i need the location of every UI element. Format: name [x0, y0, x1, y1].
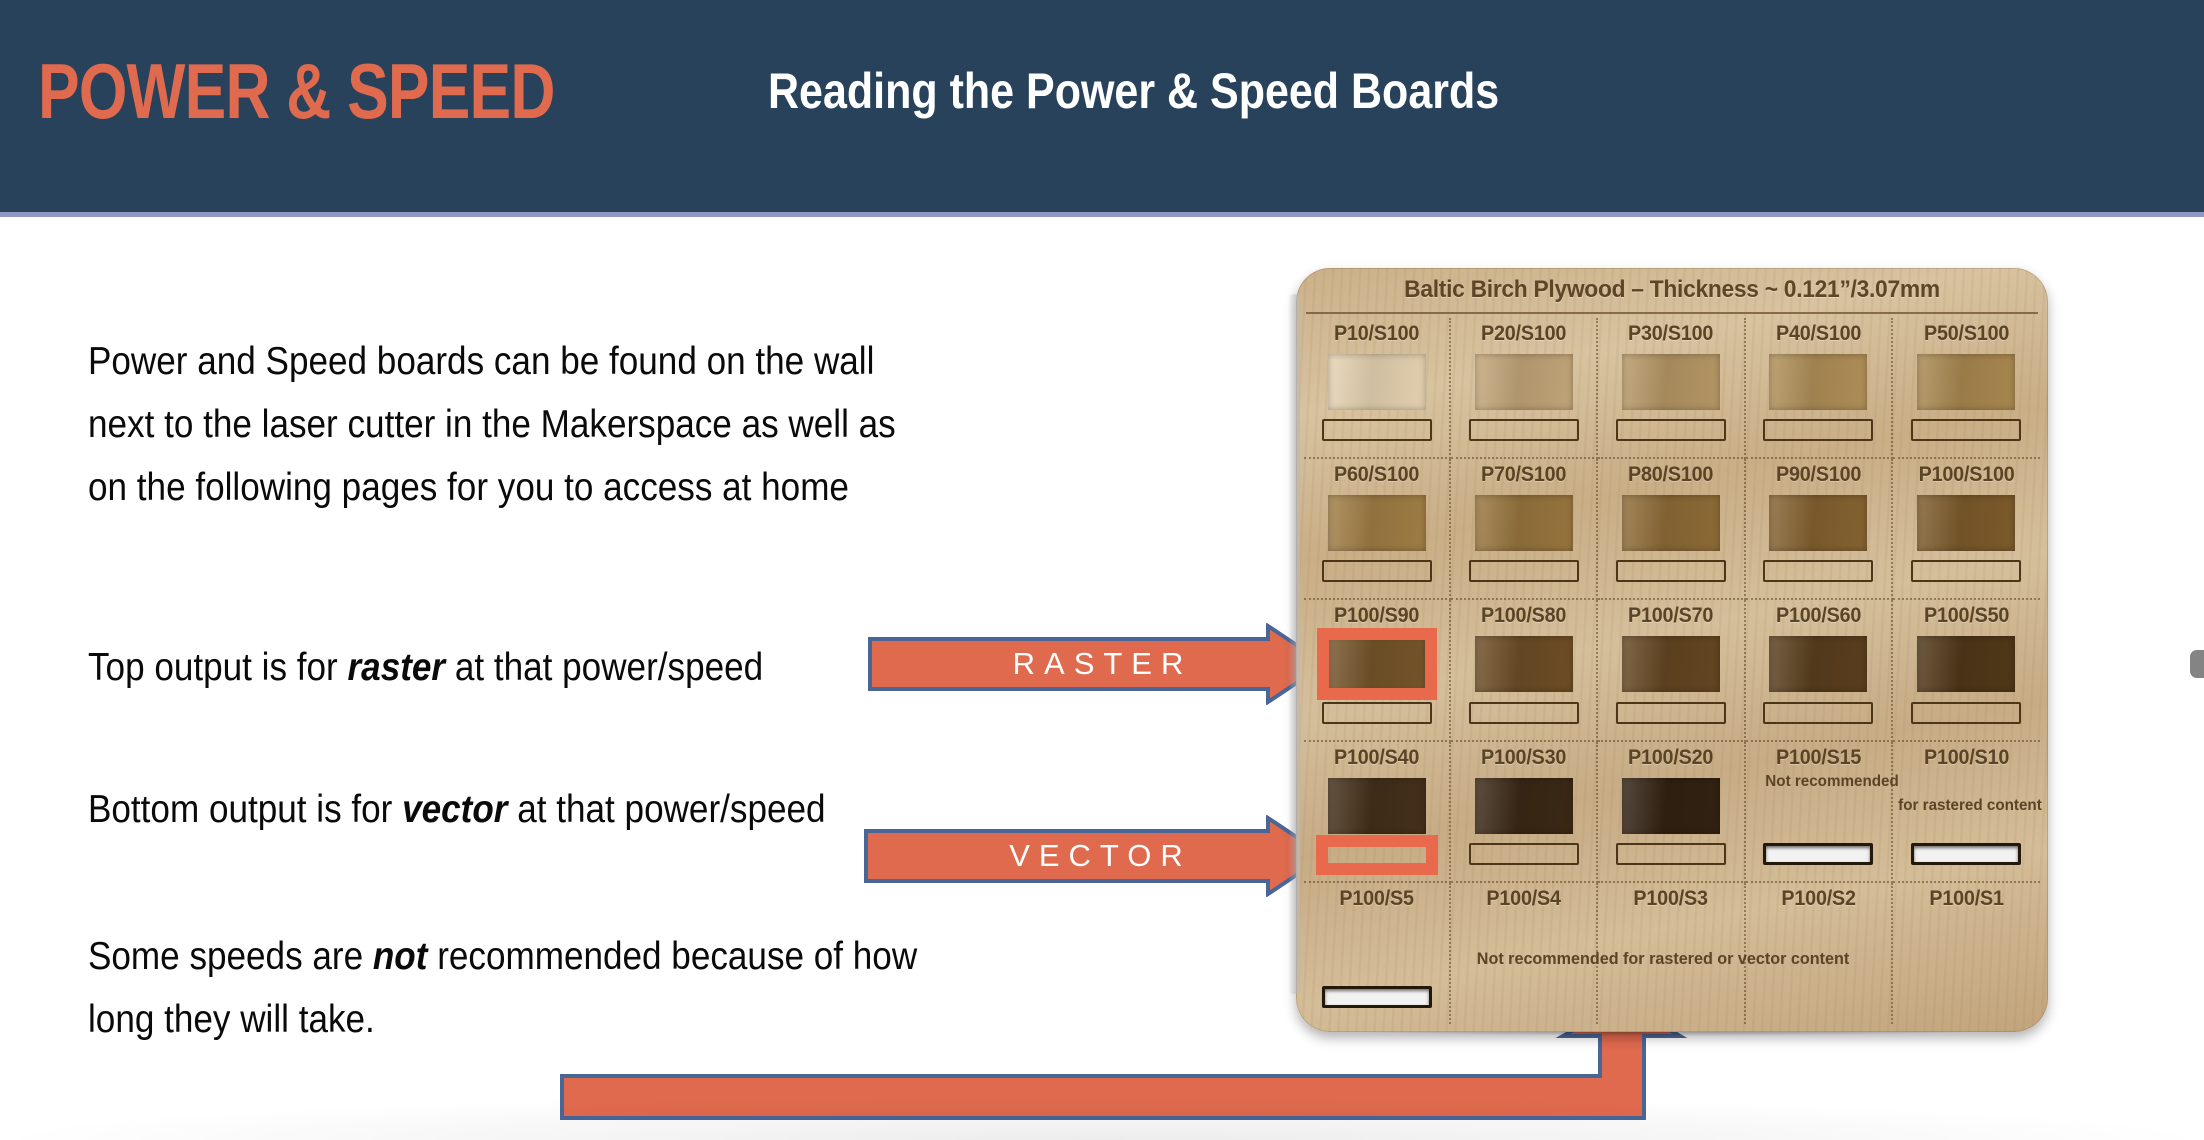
- raster-callout-arrow: RASTER: [868, 636, 1328, 692]
- board-cell-label: P30/S100: [1603, 322, 1739, 346]
- board-cell: P80/S100: [1598, 459, 1745, 600]
- board-cell: P100/S40: [1304, 742, 1451, 883]
- board-surface: Baltic Birch Plywood – Thickness ~ 0.121…: [1296, 268, 2048, 1032]
- paragraph-raster-pre: Top output is for: [88, 646, 348, 689]
- paragraph-intro: Power and Speed boards can be found on t…: [88, 330, 896, 520]
- page-title: POWER & SPEED: [38, 52, 555, 130]
- board-cell-label: P100/S10: [1897, 746, 2035, 770]
- vector-cut-through-slot: [1322, 986, 1432, 1008]
- power-speed-board-photo: Baltic Birch Plywood – Thickness ~ 0.121…: [1296, 268, 2048, 1040]
- board-cell-label: P40/S100: [1750, 322, 1886, 346]
- board-cell: P100/S3Not recommended for rastered or v…: [1598, 883, 1745, 1024]
- paragraph-vector: Bottom output is for vector at that powe…: [88, 778, 826, 841]
- header-accent-rule: [0, 212, 2204, 217]
- vector-test-slot: [1616, 843, 1726, 865]
- vector-test-slot: [1911, 560, 2021, 582]
- vector-test-slot: [1763, 560, 1873, 582]
- board-cell: P100/S90: [1304, 600, 1451, 741]
- paragraph-not-recommended-line-1: Some speeds are not recommended because …: [88, 925, 917, 988]
- board-cell: P70/S100: [1451, 459, 1598, 600]
- slide-canvas: POWER & SPEED Reading the Power & Speed …: [0, 0, 2204, 1140]
- vector-test-slot: [1616, 702, 1726, 724]
- vector-test-slot: [1322, 419, 1432, 441]
- board-heading-rule: [1306, 312, 2038, 314]
- vector-arrow-shape: [864, 815, 1328, 897]
- paragraph-intro-line-1: Power and Speed boards can be found on t…: [88, 330, 896, 393]
- vector-test-slot: [1322, 702, 1432, 724]
- board-cell: P100/S30: [1451, 742, 1598, 883]
- board-left-edge: [1288, 294, 1300, 994]
- board-cell: P100/S80: [1451, 600, 1598, 741]
- raster-test-swatch: [1622, 636, 1720, 692]
- board-cell: P100/S2: [1746, 883, 1893, 1024]
- paragraph-raster-emphasis: raster: [348, 646, 446, 689]
- board-cell: P100/S20: [1598, 742, 1745, 883]
- raster-arrow-shape: [868, 623, 1328, 705]
- board-cell-grid: P10/S100P20/S100P30/S100P40/S100P50/S100…: [1304, 318, 2040, 1024]
- raster-test-swatch: [1622, 495, 1720, 551]
- paragraph-nr-emphasis: not: [373, 935, 428, 978]
- vector-test-slot: [1469, 702, 1579, 724]
- vector-test-slot: [1469, 560, 1579, 582]
- raster-test-swatch: [1622, 354, 1720, 410]
- vector-cut-through-slot: [1763, 843, 1873, 865]
- board-note-not-recommended-raster-cont: for rastered content: [1842, 796, 2042, 816]
- board-cell-label: P100/S20: [1603, 746, 1739, 770]
- board-cell: P100/S50: [1893, 600, 2040, 741]
- vector-test-slot: [1322, 843, 1432, 865]
- raster-test-swatch: [1328, 354, 1426, 410]
- board-cell: P40/S100: [1746, 318, 1893, 459]
- board-cell: P90/S100: [1746, 459, 1893, 600]
- vector-test-slot: [1911, 419, 2021, 441]
- board-cell: P100/S70: [1598, 600, 1745, 741]
- raster-test-swatch: [1917, 354, 2015, 410]
- board-note-not-recommended-raster: Not recommended: [1699, 772, 1899, 792]
- raster-test-swatch: [1475, 636, 1573, 692]
- board-cell: P100/S60: [1746, 600, 1893, 741]
- scrollbar-thumb[interactable]: [2190, 650, 2204, 678]
- raster-test-swatch: [1475, 354, 1573, 410]
- board-cell-label: P100/S80: [1456, 604, 1592, 628]
- raster-test-swatch: [1769, 354, 1867, 410]
- board-cell-label: P80/S100: [1603, 463, 1739, 487]
- board-cell-label: P100/S1: [1897, 887, 2035, 911]
- vector-cut-through-slot: [1911, 843, 2021, 865]
- vector-test-slot: [1763, 702, 1873, 724]
- board-cell-label: P50/S100: [1897, 322, 2035, 346]
- board-cell: P20/S100: [1451, 318, 1598, 459]
- vector-test-slot: [1911, 702, 2021, 724]
- raster-test-swatch: [1769, 495, 1867, 551]
- board-cell: P50/S100: [1893, 318, 2040, 459]
- board-cell-label: P70/S100: [1456, 463, 1592, 487]
- board-cell-label: P90/S100: [1750, 463, 1886, 487]
- board-cell-label: P100/S15: [1750, 746, 1886, 770]
- paragraph-vector-pre: Bottom output is for: [88, 788, 402, 831]
- board-cell-label: P60/S100: [1308, 463, 1444, 487]
- paragraph-vector-emphasis: vector: [402, 788, 507, 831]
- paragraph-nr-pre: Some speeds are: [88, 935, 373, 978]
- board-cell-label: P100/S40: [1308, 746, 1444, 770]
- raster-test-swatch: [1475, 495, 1573, 551]
- paragraph-raster: Top output is for raster at that power/s…: [88, 636, 763, 699]
- paragraph-intro-line-3: on the following pages for you to access…: [88, 456, 896, 519]
- raster-test-swatch: [1917, 636, 2015, 692]
- vector-test-slot: [1322, 560, 1432, 582]
- vector-test-slot: [1469, 843, 1579, 865]
- raster-test-swatch: [1917, 495, 2015, 551]
- board-cell-label: P100/S2: [1750, 887, 1886, 911]
- raster-test-swatch: [1328, 778, 1426, 834]
- board-cell: P30/S100: [1598, 318, 1745, 459]
- board-cell-label: P100/S4: [1456, 887, 1592, 911]
- page-subtitle: Reading the Power & Speed Boards: [768, 66, 1499, 116]
- vector-test-slot: [1469, 419, 1579, 441]
- raster-test-swatch: [1475, 778, 1573, 834]
- board-cell-label: P100/S50: [1897, 604, 2035, 628]
- board-cell-label: P100/S70: [1603, 604, 1739, 628]
- vector-test-slot: [1616, 419, 1726, 441]
- board-cell: P100/S5: [1304, 883, 1451, 1024]
- vector-test-slot: [1763, 419, 1873, 441]
- board-cell-label: P10/S100: [1308, 322, 1444, 346]
- board-cell-label: P100/S3: [1603, 887, 1739, 911]
- board-cell: P100/S100: [1893, 459, 2040, 600]
- board-cell-label: P20/S100: [1456, 322, 1592, 346]
- board-cell: P100/S1: [1893, 883, 2040, 1024]
- board-cell: P10/S100: [1304, 318, 1451, 459]
- board-cell: P60/S100: [1304, 459, 1451, 600]
- board-cell-label: P100/S30: [1456, 746, 1592, 770]
- board-cell-label: P100/S60: [1750, 604, 1886, 628]
- paragraph-vector-post: at that power/speed: [507, 788, 825, 831]
- board-heading: Baltic Birch Plywood – Thickness ~ 0.121…: [1315, 276, 2029, 304]
- vector-test-slot: [1616, 560, 1726, 582]
- board-cell: P100/S10for rastered content: [1893, 742, 2040, 883]
- raster-test-swatch: [1769, 636, 1867, 692]
- vector-callout-arrow: VECTOR: [864, 828, 1328, 884]
- board-cell-label: P100/S90: [1308, 604, 1444, 628]
- paragraph-nr-post: recommended because of how: [427, 935, 917, 978]
- raster-test-swatch: [1328, 495, 1426, 551]
- paragraph-raster-post: at that power/speed: [445, 646, 763, 689]
- paragraph-intro-line-2: next to the laser cutter in the Makerspa…: [88, 393, 896, 456]
- raster-test-swatch: [1328, 636, 1426, 692]
- board-cell-label: P100/S100: [1897, 463, 2035, 487]
- board-cell-label: P100/S5: [1308, 887, 1444, 911]
